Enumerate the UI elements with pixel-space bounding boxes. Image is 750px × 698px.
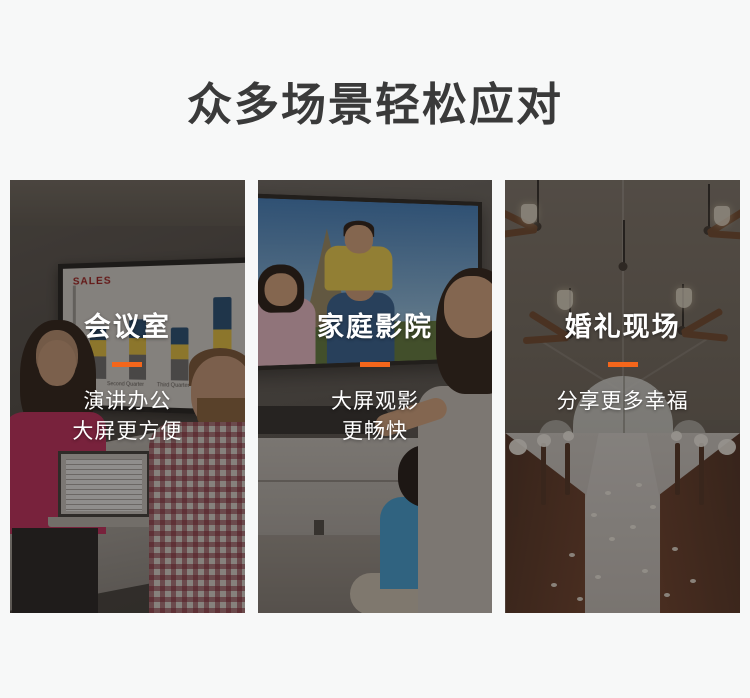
panel-title: 家庭影院 — [258, 310, 493, 344]
scene-panel-wedding-venue[interactable]: 婚礼现场 分享更多幸福 — [505, 180, 740, 613]
panel-caption: 会议室 演讲办公 大屏更方便 — [10, 310, 245, 447]
panel-title: 会议室 — [10, 310, 245, 344]
panel-title: 婚礼现场 — [505, 310, 740, 344]
accent-divider — [112, 362, 142, 367]
accent-divider — [608, 362, 638, 367]
scene-panel-row: SALES — [10, 180, 740, 613]
panel-subtitle: 大屏观影 更畅快 — [258, 387, 493, 447]
panel-subtitle-line: 分享更多幸福 — [505, 387, 740, 417]
panel-subtitle: 分享更多幸福 — [505, 387, 740, 417]
panel-subtitle-line: 大屏观影 — [258, 387, 493, 417]
panel-caption: 家庭影院 大屏观影 更畅快 — [258, 310, 493, 447]
panel-subtitle: 演讲办公 大屏更方便 — [10, 387, 245, 447]
panel-subtitle-line: 大屏更方便 — [10, 417, 245, 447]
panel-caption: 婚礼现场 分享更多幸福 — [505, 310, 740, 417]
scene-panel-home-theater[interactable]: 家庭影院 大屏观影 更畅快 — [258, 180, 493, 613]
scene-panel-meeting-room[interactable]: SALES — [10, 180, 245, 613]
accent-divider — [360, 362, 390, 367]
panel-subtitle-line: 演讲办公 — [10, 387, 245, 417]
promo-page: 众多场景轻松应对 SALES — [0, 0, 750, 698]
page-title: 众多场景轻松应对 — [0, 78, 750, 132]
panel-subtitle-line: 更畅快 — [258, 417, 493, 447]
